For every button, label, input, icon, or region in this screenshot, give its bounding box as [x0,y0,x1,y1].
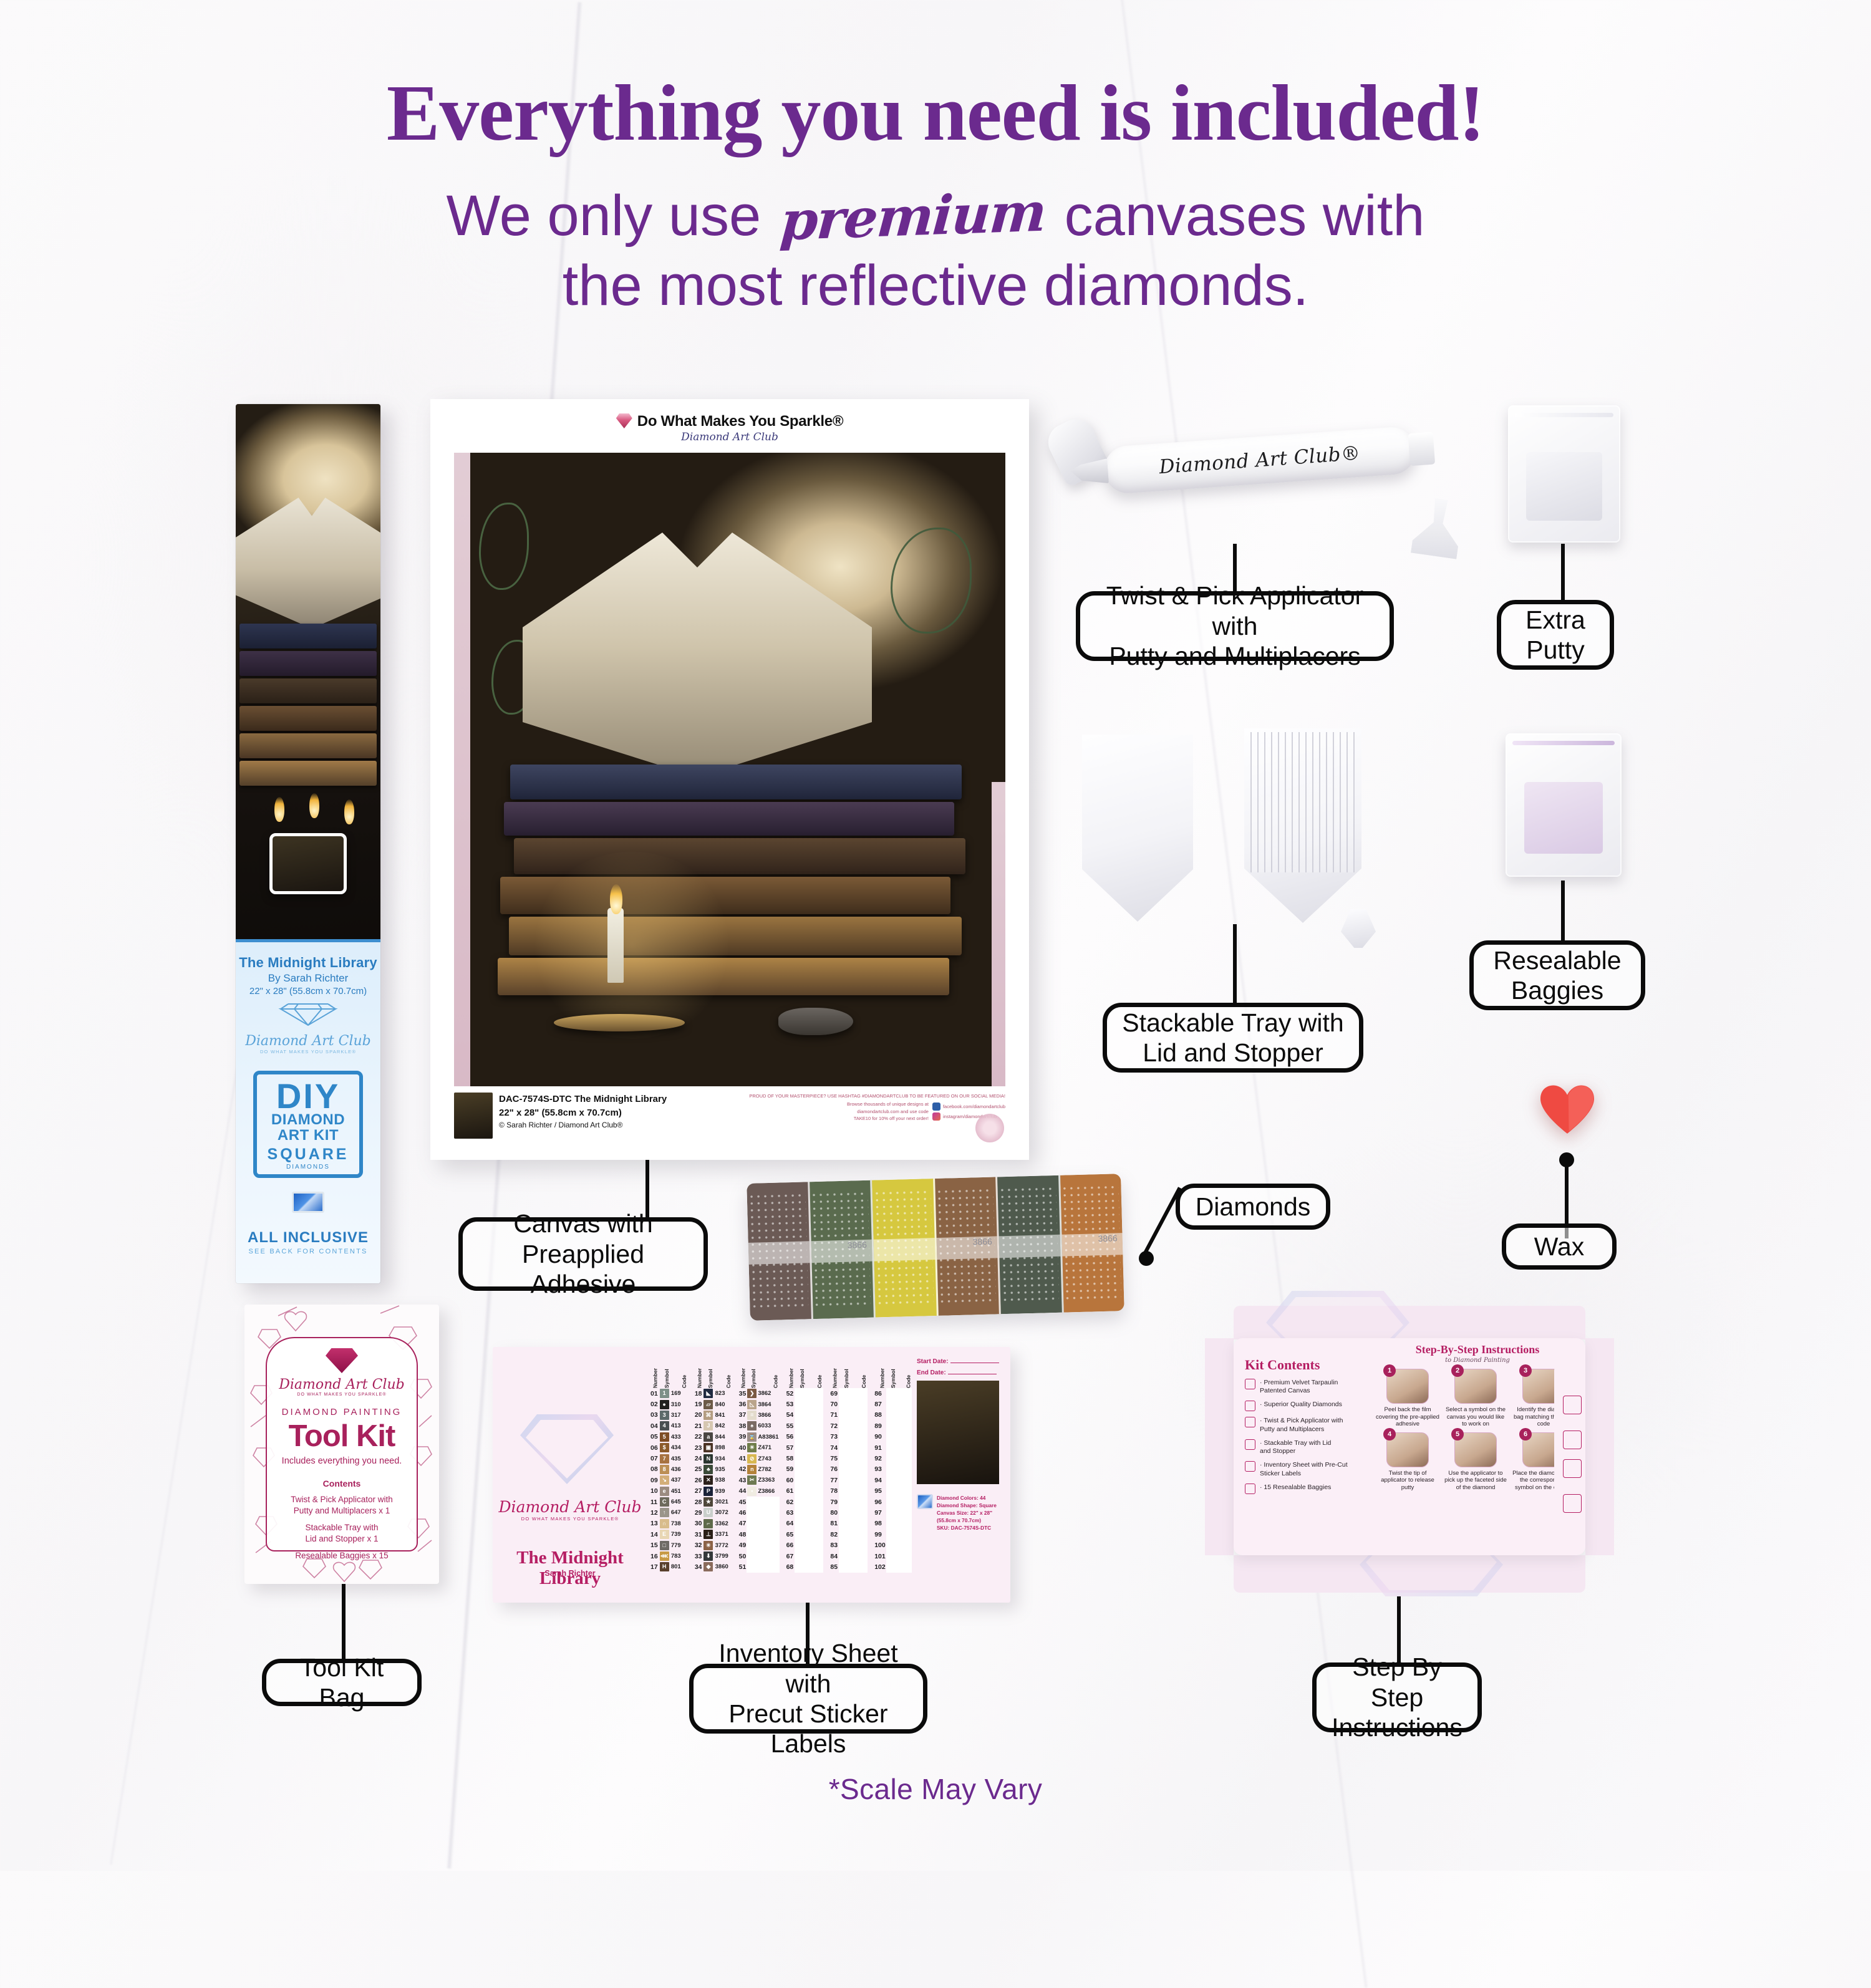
table-row: 96 [874,1497,912,1507]
row-symbol: ⋘ [659,1551,670,1561]
callout-canvas[interactable]: Canvas withPreapplied Adhesive [458,1217,708,1291]
row-code [850,1529,868,1540]
callout-baggies[interactable]: ResealableBaggies [1469,940,1645,1010]
row-number: 82 [829,1529,839,1540]
row-code [757,1507,779,1518]
kit-box-label: The Midnight Library By Sarah Richter 22… [236,939,380,1283]
row-symbol: ▱ [703,1399,714,1409]
row-symbol: N [703,1453,714,1464]
color-swatch: ↑ [660,1508,669,1517]
row-symbol [839,1410,850,1421]
row-number: 76 [829,1464,839,1475]
color-swatch: 5 [660,1432,669,1442]
row-code [897,1399,912,1409]
color-swatch: N [703,1454,713,1464]
row-code: 3860 [715,1561,732,1572]
row-number: 77 [829,1475,839,1485]
row-code: 935 [715,1464,732,1475]
row-number: 06 [650,1442,659,1453]
row-number: 58 [786,1453,795,1464]
row-symbol [747,1551,757,1561]
row-code: 898 [715,1442,732,1453]
row-code [897,1388,912,1399]
step-caption: Use the applicator to pick up the facete… [1444,1470,1507,1492]
row-code [897,1432,912,1442]
instruction-step: 5Use the applicator to pick up the facet… [1444,1432,1507,1492]
column-header: Symbol [659,1358,670,1388]
table-row: 055433 [650,1432,688,1442]
row-number: 49 [738,1540,747,1550]
row-symbol: E [659,1529,670,1540]
row-code: 3862 [757,1388,779,1399]
row-symbol [795,1453,806,1464]
inventory-legend-tables: NumberSymbolCode01116902●310033317044413… [647,1347,917,1603]
row-code [806,1486,823,1497]
table-row: 101 [874,1551,912,1561]
table-row: 80 [829,1507,868,1518]
row-number: 92 [874,1453,886,1464]
row-number: 86 [874,1388,886,1399]
tips-subheading: FOR YOUR PROJECT [1563,1384,1585,1390]
row-code [806,1453,823,1464]
row-number: 75 [829,1453,839,1464]
row-symbol: 5 [659,1432,670,1442]
color-swatch: a [703,1432,713,1442]
row-symbol: ⌐ [703,1518,714,1529]
row-number: 51 [738,1561,747,1572]
table-row: 26✕938 [694,1475,732,1485]
color-swatch: ⌐ [703,1519,713,1528]
tip-row: Work in sections:Use our clear tearable … [1563,1396,1585,1425]
canvas-copyright: © Sarah Richter / Diamond Art Club® [499,1120,667,1131]
step-caption: Twist the tip of applicator to release p… [1376,1470,1439,1492]
table-row: 70 [829,1399,868,1409]
row-code [850,1507,868,1518]
row-symbol: ⊥ [703,1529,714,1540]
start-date-row: Start Date: [917,1358,1003,1365]
row-symbol [795,1561,806,1572]
row-code: 317 [670,1410,688,1421]
kit-content-label: · Stackable Tray with Lidand Stopper [1260,1439,1331,1455]
color-swatch: ✳ [703,1541,713,1550]
row-code [806,1442,823,1453]
row-number: 28 [694,1497,703,1507]
diamond-icon [520,1414,614,1484]
row-code [897,1518,912,1529]
row-number: 78 [829,1486,839,1497]
callout-inventory[interactable]: Inventory Sheet withPrecut Sticker Label… [689,1664,927,1734]
kit-box: The Midnight Library By Sarah Richter 22… [236,404,380,1283]
color-swatch: = [747,1411,757,1420]
row-symbol: 4 [659,1421,670,1431]
row-code [806,1410,823,1421]
row-symbol [795,1486,806,1497]
canvas-footer-thumbnail [454,1093,493,1139]
column-header: Symbol [703,1358,714,1388]
row-symbol: ● [659,1399,670,1409]
scale-footnote: *Scale May Vary [0,1772,1871,1806]
row-number: 17 [650,1561,659,1572]
row-number: 15 [650,1540,659,1550]
row-number: 79 [829,1497,839,1507]
page-title: Everything you need is included! [0,67,1871,159]
table-row: 74 [829,1442,868,1453]
color-swatch: ✕ [703,1475,713,1485]
row-symbol [839,1388,850,1399]
table-row: 19▱840 [694,1399,732,1409]
extra-putty-baggie [1508,405,1620,543]
tip-icon [1563,1494,1582,1513]
color-swatch: ● [660,1400,669,1409]
row-number: 44 [738,1486,747,1497]
row-code: 841 [715,1410,732,1421]
row-number: 94 [874,1475,886,1485]
row-symbol [886,1561,897,1572]
color-swatch: 4 [660,1421,669,1431]
table-row: 30⌐3362 [694,1518,732,1529]
diy-line2: ART KIT [257,1128,359,1143]
color-swatch: ♣ [703,1465,713,1474]
table-row: 91 [874,1442,912,1453]
row-symbol [795,1475,806,1485]
canvas-size: 22" x 28" (55.8cm x 70.7cm) [499,1107,622,1118]
row-code: 739 [670,1529,688,1540]
row-code [850,1540,868,1550]
row-number: 23 [694,1442,703,1453]
row-symbol [886,1518,897,1529]
column-header: Symbol [839,1358,850,1388]
kit-content-icon [1245,1439,1255,1450]
table-row: 68 [786,1561,824,1572]
table-row: 95 [874,1486,912,1497]
table-row: 51 [738,1561,780,1572]
row-symbol: ✕ [703,1475,714,1485]
callout-extra-putty[interactable]: ExtraPutty [1497,600,1614,670]
step-photo: 4 [1386,1432,1429,1467]
row-symbol: H [659,1561,670,1572]
end-date-row: End Date: [917,1369,1003,1376]
tips-block: Tips and Tricks FOR YOUR PROJECT Work in… [1554,1363,1585,1538]
row-code [897,1442,912,1453]
table-row: 64 [786,1518,824,1529]
gem-icon [616,413,632,428]
row-code [806,1540,823,1550]
row-symbol [839,1464,850,1475]
row-code: 3362 [715,1518,732,1529]
table-row: 45 [738,1497,780,1507]
row-symbol [886,1507,897,1518]
row-symbol [839,1561,850,1572]
row-symbol [839,1507,850,1518]
kit-contents-heading: Kit Contents [1245,1357,1365,1373]
row-number: 26 [694,1475,703,1485]
row-code: 842 [715,1421,732,1431]
table-row: 38♠6033 [738,1421,780,1431]
row-symbol [886,1529,897,1540]
row-symbol: 8 [659,1464,670,1475]
row-code [897,1497,912,1507]
row-number: 61 [786,1486,795,1497]
callout-applicator[interactable]: Twist & Pick Applicator withPutty and Mu… [1076,591,1394,661]
table-row: 13∩738 [650,1518,688,1529]
color-swatch: E [660,1530,669,1539]
table-row: 102 [874,1561,912,1572]
color-swatch: ⌛ [747,1432,757,1442]
row-number: 12 [650,1507,659,1518]
row-symbol: ★ [703,1497,714,1507]
row-number: 33 [694,1551,703,1561]
color-swatch: ♠ [747,1421,757,1431]
promo-line1: Browse thousands of unique designs at [847,1101,929,1107]
column-header: Number [694,1358,703,1388]
table-row: 46 [738,1507,780,1518]
kit-box-artist: By Sarah Richter [236,972,380,985]
row-number: 07 [650,1453,659,1464]
table-row: 29U3072 [694,1507,732,1518]
row-number: 64 [786,1518,795,1529]
tips-heading: Tips and Tricks [1563,1371,1585,1384]
color-swatch: $ [660,1443,669,1452]
row-symbol [839,1421,850,1431]
diy-badge: DIY DIAMOND ART KIT SQUARE DIAMONDS [253,1071,363,1178]
row-code: Z3866 [757,1486,779,1497]
tip-icon [1563,1396,1582,1414]
tool-kit-brand: Diamond Art Club [267,1377,417,1392]
row-code [850,1551,868,1561]
bag-code-label: 3866 [811,1239,872,1263]
meta-colors: Diamond Colors: 44 [937,1494,1003,1502]
inventory-column: NumberSymbolCode18◣82319▱84020⌘84121J842… [694,1358,732,1596]
row-code: 647 [670,1507,688,1518]
table-row: 52 [786,1388,824,1399]
color-swatch: ∩ [660,1519,669,1528]
row-code [806,1497,823,1507]
inventory-column: NumberSymbolCode525354555657585960616263… [786,1358,824,1596]
table-row: 65 [786,1529,824,1540]
row-symbol: e [659,1486,670,1497]
canvas-footer-text: DAC-7574S-DTC The Midnight Library 22" x… [499,1093,667,1144]
row-number: 95 [874,1486,886,1497]
row-number: 19 [694,1399,703,1409]
row-code [806,1529,823,1540]
table-row: 82 [829,1529,868,1540]
poster-root: Everything you need is included! We only… [0,0,1871,1871]
table-row: 06$434 [650,1442,688,1453]
step-photo: 5 [1454,1432,1497,1467]
tip-row: Pre-cut stickers:Use the individual stic… [1563,1459,1585,1489]
row-code [806,1421,823,1431]
row-number: 96 [874,1497,886,1507]
kit-box-title: The Midnight Library [236,955,380,971]
row-number: 89 [874,1421,886,1431]
row-code: 436 [670,1464,688,1475]
row-code: 939 [715,1486,732,1497]
table-row: 72 [829,1421,868,1431]
promo-line2: diamondartclub.com and use code [847,1108,929,1115]
inventory-sheet: Diamond Art Club DO WHAT MAKES YOU SPARK… [493,1347,1010,1603]
inventory-preview-image [917,1381,999,1484]
instructions-sheet: Kit Contents · Premium Velvet TarpaulinP… [1172,1285,1646,1609]
color-swatch: □ [660,1541,669,1550]
row-symbol: ↑ [659,1507,670,1518]
table-row: 35❯3862 [738,1388,780,1399]
leader-tray [1233,924,1237,1004]
row-symbol [795,1410,806,1421]
table-row: 94 [874,1475,912,1485]
step-caption: Peel back the film covering the pre-appl… [1376,1406,1439,1428]
table-row: 24N934 [694,1453,732,1464]
row-symbol: ♣ [703,1464,714,1475]
diy-text: DIY [257,1079,359,1112]
meta-shape: Diamond Shape: Square [937,1502,1003,1509]
row-number: 80 [829,1507,839,1518]
row-code: Z782 [757,1464,779,1475]
row-code: 437 [670,1475,688,1485]
row-code: 938 [715,1475,732,1485]
color-swatch: ◆ [703,1562,713,1571]
row-code: 738 [670,1518,688,1529]
table-row: 88 [874,1410,912,1421]
row-symbol: ☀ [747,1442,757,1453]
row-code [806,1388,823,1399]
inventory-artist: Sarah Richter [493,1569,647,1578]
row-code [897,1475,912,1485]
row-symbol: C [659,1497,670,1507]
applicator-brand-label: Diamond Art Club® [1103,426,1417,495]
color-swatch: ⋘ [660,1551,669,1561]
row-symbol: J [703,1421,714,1431]
canvas-header-main: Do What Makes You Sparkle® [637,413,843,430]
callout-diamonds[interactable]: Diamonds [1176,1184,1330,1230]
kit-content-icon [1245,1461,1255,1472]
callout-steps[interactable]: Step By StepInstructions [1312,1662,1482,1732]
canvas-social-block: PROUD OF YOUR MASTERPIECE? USE HASHTAG #… [749,1093,1005,1144]
color-swatch: ◺ [747,1400,757,1409]
color-swatch: ☀ [747,1443,757,1452]
leader-baggies [1561,881,1565,942]
table-row: 53 [786,1399,824,1409]
stackable-tray [1082,735,1193,922]
row-symbol [839,1432,850,1442]
steps-block: Step-By-Step Instructions to Diamond Pai… [1376,1343,1579,1491]
row-code: 3371 [715,1529,732,1540]
callout-tray[interactable]: Stackable Tray withLid and Stopper [1103,1003,1363,1073]
row-code [850,1421,868,1431]
row-symbol [747,1540,757,1550]
row-number: 55 [786,1421,795,1431]
row-code: 840 [715,1399,732,1409]
tool-kit-tagline: DO WHAT MAKES YOU SPARKLE® [267,1392,417,1397]
canvas-social-note: PROUD OF YOUR MASTERPIECE? USE HASHTAG #… [749,1093,1005,1099]
row-number: 52 [786,1388,795,1399]
canvas-sheet: Do What Makes You Sparkle® Diamond Art C… [430,399,1029,1160]
row-symbol [795,1388,806,1399]
row-code: 823 [715,1388,732,1399]
row-code [806,1464,823,1475]
callout-wax[interactable]: Wax [1502,1223,1617,1270]
table-row: 92 [874,1453,912,1464]
kit-content-label: · 15 Resealable Baggies [1260,1484,1331,1494]
table-row: 39⌛A83861 [738,1432,780,1442]
row-symbol [795,1432,806,1442]
row-code [757,1497,779,1507]
row-code [806,1518,823,1529]
diamond-bags: 3866 3866 3866 [747,1174,1124,1321]
facebook-icon [932,1103,940,1111]
row-symbol [886,1486,897,1497]
row-code [850,1518,868,1529]
table-row: 088436 [650,1464,688,1475]
table-row: 76 [829,1464,868,1475]
table-row: 27P939 [694,1486,732,1497]
tip-icon [1563,1431,1582,1449]
step-number: 5 [1451,1428,1464,1440]
row-number: 39 [738,1432,747,1442]
table-row: 033317 [650,1410,688,1421]
diamond-icon [326,1348,358,1373]
row-number: 70 [829,1399,839,1409]
table-row: 41⊘Z743 [738,1453,780,1464]
color-swatch: ❯ [747,1389,757,1398]
row-code: 3021 [715,1497,732,1507]
color-swatch: ◣ [703,1389,713,1398]
row-number: 69 [829,1388,839,1399]
tray-stopper [1341,909,1376,948]
row-number: 30 [694,1518,703,1529]
table-row: 54 [786,1410,824,1421]
row-number: 68 [786,1561,795,1572]
table-row: 31⊥3371 [694,1529,732,1540]
table-row: 33⬇3799 [694,1551,732,1561]
table-row: 69 [829,1388,868,1399]
instruction-step: 4Twist the tip of applicator to release … [1376,1432,1439,1492]
wax-heart-icon [1540,1085,1594,1135]
table-row: 78 [829,1486,868,1497]
column-header: Symbol [795,1358,806,1388]
callout-toolkit[interactable]: Tool Kit Bag [262,1659,422,1706]
row-number: 56 [786,1432,795,1442]
table-row: 44▪Z3866 [738,1486,780,1497]
row-code [850,1410,868,1421]
row-symbol: ✂ [747,1475,757,1485]
row-code [806,1507,823,1518]
step-number: 2 [1451,1364,1464,1377]
row-number: 05 [650,1432,659,1442]
row-number: 45 [738,1497,747,1507]
row-symbol [886,1453,897,1464]
inventory-meta: Diamond Colors: 44 Diamond Shape: Square… [937,1494,1003,1532]
row-symbol: ↘ [659,1475,670,1485]
row-symbol [886,1432,897,1442]
table-row: 09↘437 [650,1475,688,1485]
row-number: 57 [786,1442,795,1453]
table-row: 49 [738,1540,780,1550]
row-number: 32 [694,1540,703,1550]
table-row: 83 [829,1540,868,1550]
row-symbol [795,1507,806,1518]
color-swatch: 8 [660,1465,669,1474]
resealable-baggies [1506,733,1622,877]
row-number: 02 [650,1399,659,1409]
tool-kit-content-2a: Stackable Tray with [267,1522,417,1533]
step-number: 1 [1383,1364,1396,1377]
row-number: 31 [694,1529,703,1540]
row-code: 3772 [715,1540,732,1550]
table-row: 93 [874,1464,912,1475]
row-symbol: 3 [659,1410,670,1421]
column-header: Number [829,1358,839,1388]
row-number: 84 [829,1551,839,1561]
